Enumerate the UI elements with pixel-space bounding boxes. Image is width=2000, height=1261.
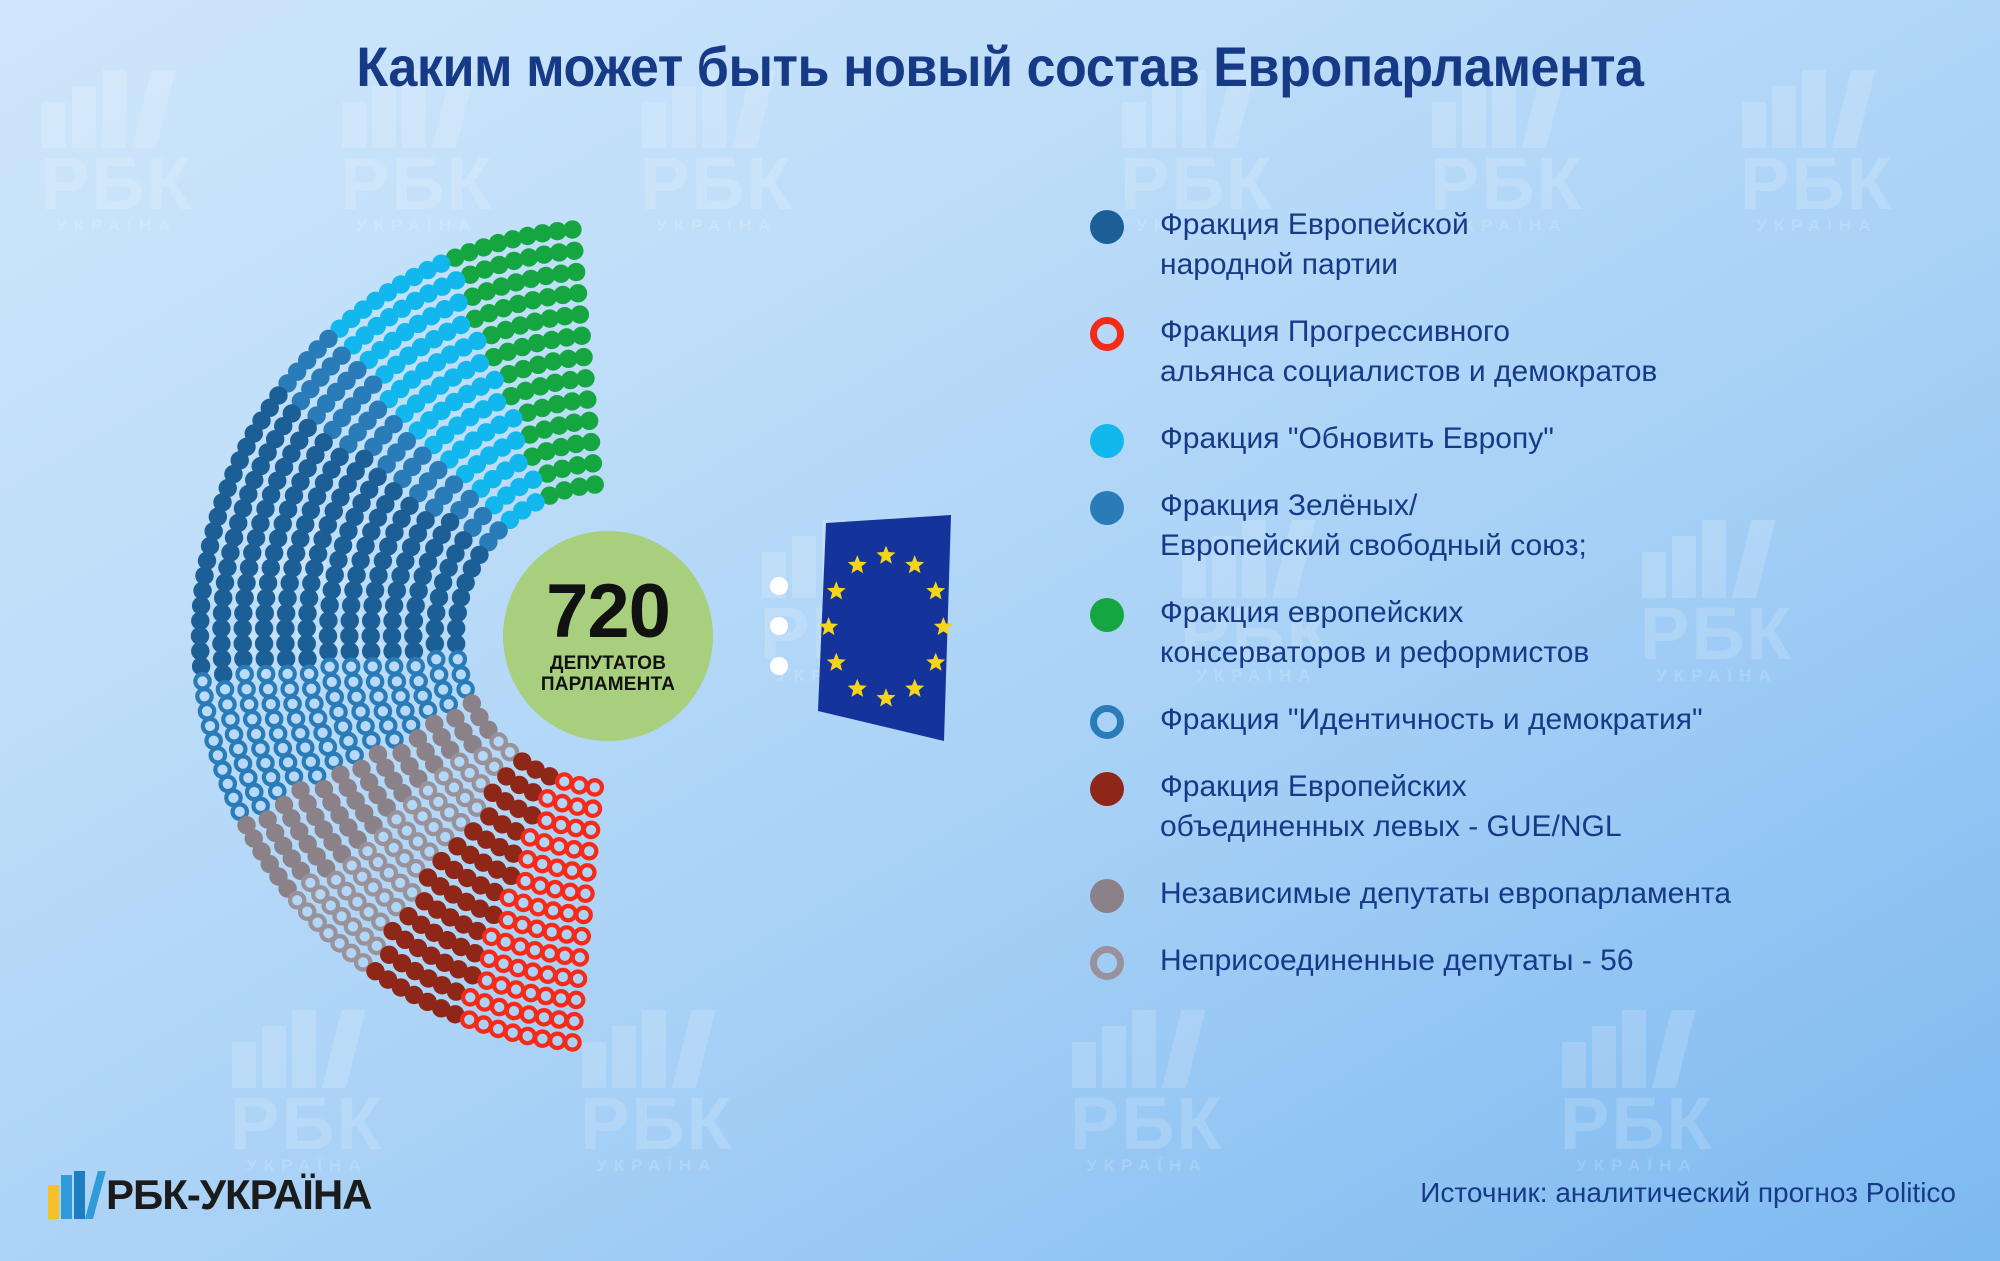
- seat-dot: [535, 1031, 549, 1045]
- legend-line-2: объединенных левых - GUE/NGL: [1160, 807, 1622, 847]
- seat-dot: [264, 697, 278, 711]
- seat-dot: [506, 1026, 520, 1040]
- seat-dot: [552, 839, 566, 853]
- seat-dot: [567, 1014, 581, 1028]
- seat-dot: [452, 588, 470, 606]
- seat-dot: [197, 689, 211, 703]
- seat-dot: [554, 991, 568, 1005]
- seat-dot: [494, 978, 508, 992]
- seat-dot: [520, 1029, 534, 1043]
- seat-dot: [563, 885, 577, 899]
- legend-line-1: Фракция Зелёных/: [1160, 489, 1417, 522]
- seat-dot: [540, 791, 554, 805]
- page-title: Каким может быть новый состав Европарлам…: [70, 34, 1930, 99]
- legend-line-2: консерваторов и реформистов: [1160, 633, 1589, 673]
- seat-dot: [526, 965, 540, 979]
- seat-dot: [582, 844, 596, 858]
- legend-line-1: Фракция европейских: [1160, 596, 1463, 629]
- watermark-bars-icon: [1070, 1010, 1188, 1088]
- seat-dot: [458, 682, 472, 696]
- legend-line-1: Фракция "Обновить Европу": [1160, 422, 1554, 455]
- seat-dot: [349, 690, 363, 704]
- seat-dot: [528, 943, 542, 957]
- legend-line-2: альянса социалистов и демократов: [1160, 352, 1657, 392]
- seat-dot: [429, 652, 443, 666]
- seat-dot: [513, 939, 527, 953]
- seat-dot: [558, 949, 572, 963]
- seat-dot: [267, 712, 281, 726]
- seat-dot: [507, 1004, 521, 1018]
- seat-dot: [476, 1017, 490, 1031]
- seat-dot: [501, 913, 515, 927]
- seat-dot: [569, 821, 583, 835]
- caption-line-1: ДЕПУТАТОВ: [550, 653, 666, 674]
- seat-dot: [573, 950, 587, 964]
- filled-circle-icon: [1090, 598, 1124, 632]
- legend-line-1: Фракция Европейских: [1160, 770, 1467, 803]
- seat-dot: [580, 865, 594, 879]
- filled-circle-icon: [1090, 491, 1124, 525]
- seat-dot: [307, 696, 321, 710]
- legend-label: Фракция Зелёных/ Европейский свободный с…: [1160, 486, 1587, 566]
- seat-dot: [522, 1007, 536, 1021]
- seat-dot: [409, 659, 423, 673]
- rbk-logo[interactable]: РБК-УКРАЇНА: [48, 1171, 372, 1219]
- watermark-brand: РБК: [1560, 1092, 1714, 1156]
- seat-dot: [477, 995, 491, 1009]
- legend-label: Независимые депутаты европарламента: [1160, 874, 1731, 914]
- legend-line-2: народной партии: [1160, 245, 1469, 285]
- seat-dot: [568, 456, 586, 474]
- seat-dot: [584, 823, 598, 837]
- seat-dot: [518, 874, 532, 888]
- source-attribution: Источник: аналитический прогноз Politico: [1420, 1177, 1956, 1209]
- seat-dot: [454, 667, 468, 681]
- seat-dot: [545, 925, 559, 939]
- seat-dot: [451, 652, 465, 666]
- seat-dot: [491, 1022, 505, 1036]
- seat-dot: [552, 1012, 566, 1026]
- legend-label: Фракция Европейских объединенных левых -…: [1160, 767, 1622, 847]
- seat-dot: [511, 961, 525, 975]
- seat-dot: [325, 675, 339, 689]
- seat-dot: [293, 726, 307, 740]
- seat-dot: [206, 734, 220, 748]
- seat-dot: [565, 1035, 579, 1049]
- legend-label: Фракция Европейской народной партии: [1160, 205, 1469, 285]
- rbk-bars-icon: [48, 1171, 92, 1219]
- seat-dot: [531, 900, 545, 914]
- seat-dot: [231, 742, 245, 756]
- seat-dot: [311, 711, 325, 725]
- seat-dot: [584, 454, 602, 472]
- seat-dot: [432, 667, 446, 681]
- seat-dot: [567, 842, 581, 856]
- seat-dot: [498, 935, 512, 949]
- legend-item-id[interactable]: Фракция "Идентичность и демократия": [1090, 700, 1970, 740]
- seat-dot: [541, 968, 555, 982]
- legend-line-1: Фракция Прогрессивного: [1160, 315, 1510, 348]
- seat-dot: [533, 878, 547, 892]
- caption-line-2: ПАРЛАМЕНТА: [541, 674, 675, 695]
- legend-line-1: Фракция Европейской: [1160, 208, 1469, 241]
- legend-item-sd[interactable]: Фракция Прогрессивного альянса социалист…: [1090, 312, 1970, 392]
- seat-dot: [336, 719, 350, 733]
- seat-dot: [271, 726, 285, 740]
- watermark-brand: РБК: [230, 1092, 384, 1156]
- filled-circle-icon: [1090, 210, 1124, 244]
- filled-circle-icon: [1090, 424, 1124, 458]
- seat-dot: [537, 1010, 551, 1024]
- seat-dot: [482, 952, 496, 966]
- seat-dot: [245, 712, 259, 726]
- seat-dot: [463, 990, 477, 1004]
- seat-dot: [203, 719, 217, 733]
- seat-dot: [237, 667, 251, 681]
- seat-dot: [586, 475, 604, 493]
- legend-label: Фракция "Обновить Европу": [1160, 419, 1554, 459]
- filled-circle-icon: [1090, 772, 1124, 806]
- total-seats-number: 720: [546, 578, 670, 646]
- watermark-brand: РБК: [1070, 1092, 1224, 1156]
- seat-dot: [390, 674, 404, 688]
- seat-dot: [550, 1034, 564, 1048]
- eu-flag-block: [770, 515, 955, 745]
- seat-dot: [371, 689, 385, 703]
- seat-dot: [509, 982, 523, 996]
- seat-dot: [548, 882, 562, 896]
- seat-dot: [515, 918, 529, 932]
- seat-dot: [195, 674, 209, 688]
- watermark-bars-icon: [1560, 1010, 1678, 1088]
- watermark-sub: УКРАЇНА: [1070, 1156, 1224, 1176]
- total-seats-caption: ДЕПУТАТОВ ПАРЛАМЕНТА: [541, 653, 675, 695]
- legend: Фракция Европейской народной партии Фрак…: [1090, 205, 1970, 1008]
- legend-item-epp[interactable]: Фракция Европейской народной партии: [1090, 205, 1970, 285]
- seat-dot: [353, 704, 367, 718]
- seat-dot: [539, 989, 553, 1003]
- legend-item-renew[interactable]: Фракция "Обновить Европу": [1090, 419, 1970, 459]
- seat-dot: [569, 993, 583, 1007]
- eu-flag-icon: [818, 515, 953, 743]
- seat-dot: [283, 682, 297, 696]
- seat-dot: [346, 675, 360, 689]
- seat-dot: [588, 780, 602, 794]
- legend-item-independent[interactable]: Независимые депутаты европарламента: [1090, 874, 1970, 914]
- total-seats-badge: 720 ДЕПУТАТОВ ПАРЛАМЕНТА: [503, 531, 713, 741]
- legend-item-greens-efa[interactable]: Фракция Зелёных/ Европейский свободный с…: [1090, 486, 1970, 566]
- watermark-sub: УКРАЇНА: [580, 1156, 734, 1176]
- flag-pole-dots-icon: [770, 577, 788, 697]
- seat-dot: [492, 1000, 506, 1014]
- seat-dot: [516, 896, 530, 910]
- seat-dot: [575, 929, 589, 943]
- seat-dot: [387, 659, 401, 673]
- hollow-circle-icon: [1090, 317, 1124, 351]
- seat-dot: [242, 697, 256, 711]
- seat-dot: [223, 712, 237, 726]
- seat-dot: [571, 971, 585, 985]
- hollow-circle-icon: [1090, 946, 1124, 980]
- seat-dot: [550, 861, 564, 875]
- rbk-logo-text: РБК-УКРАЇНА: [106, 1171, 372, 1219]
- seat-dot: [344, 659, 358, 673]
- seat-dot: [411, 674, 425, 688]
- legend-label: Фракция "Идентичность и демократия": [1160, 700, 1703, 740]
- seat-dot: [211, 748, 225, 762]
- seat-dot: [436, 682, 450, 696]
- legend-item-non-attached[interactable]: Неприсоединенные депутаты - 56: [1090, 941, 1970, 981]
- legend-line-1: Независимые депутаты европарламента: [1160, 877, 1731, 910]
- seat-dot: [570, 799, 584, 813]
- seat-dot: [530, 922, 544, 936]
- seat-dot: [543, 946, 557, 960]
- seat-dot: [480, 973, 494, 987]
- seat-dot: [302, 667, 316, 681]
- seat-dot: [535, 857, 549, 871]
- seat-dot: [200, 704, 214, 718]
- seat-dot: [331, 705, 345, 719]
- legend-label: Неприсоединенные депутаты - 56: [1160, 941, 1634, 981]
- legend-item-gue-ngl[interactable]: Фракция Европейских объединенных левых -…: [1090, 767, 1970, 847]
- seat-dot: [289, 711, 303, 725]
- seat-dot: [557, 774, 571, 788]
- seat-dot: [546, 903, 560, 917]
- seat-dot: [520, 852, 534, 866]
- legend-label: Фракция Прогрессивного альянса социалист…: [1160, 312, 1657, 392]
- seat-dot: [261, 682, 275, 696]
- seat-dot: [227, 727, 241, 741]
- seat-dot: [586, 801, 600, 815]
- seat-dot: [253, 741, 267, 755]
- seat-dot: [376, 704, 390, 718]
- seat-dot: [572, 778, 586, 792]
- seat-dot: [554, 818, 568, 832]
- seat-dot: [322, 660, 336, 674]
- seat-dot: [285, 697, 299, 711]
- legend-line-2: Европейский свободный союз;: [1160, 526, 1587, 566]
- watermark-tile: РБК УКРАЇНА: [1070, 1010, 1224, 1176]
- seat-dot: [365, 659, 379, 673]
- seat-dot: [496, 957, 510, 971]
- filled-circle-icon: [1090, 879, 1124, 913]
- seat-dot: [578, 886, 592, 900]
- seat-dot: [259, 667, 273, 681]
- legend-line-1: Неприсоединенные депутаты - 56: [1160, 944, 1634, 977]
- seat-dot: [539, 813, 553, 827]
- seat-dot: [537, 835, 551, 849]
- seat-dot: [556, 970, 570, 984]
- legend-label: Фракция европейских консерваторов и рефо…: [1160, 593, 1589, 673]
- seat-dot: [328, 690, 342, 704]
- hollow-circle-icon: [1090, 705, 1124, 739]
- seat-dot: [368, 674, 382, 688]
- seat-dot: [565, 863, 579, 877]
- seat-dot: [218, 682, 232, 696]
- watermark-tile: РБК УКРАЇНА: [1560, 1010, 1714, 1176]
- seat-dot: [559, 927, 573, 941]
- seat-dot: [576, 908, 590, 922]
- legend-line-1: Фракция "Идентичность и демократия": [1160, 703, 1703, 736]
- seat-dot: [502, 891, 516, 905]
- seat-dot: [304, 682, 318, 696]
- seat-dot: [220, 697, 234, 711]
- seat-dot: [393, 689, 407, 703]
- seat-dot: [523, 830, 537, 844]
- seat-dot: [239, 682, 253, 696]
- seat-dot: [524, 986, 538, 1000]
- seat-dot: [249, 727, 263, 741]
- seat-dot: [561, 906, 575, 920]
- seat-dot: [555, 796, 569, 810]
- seat-dot: [430, 588, 448, 606]
- watermark-brand: РБК: [580, 1092, 734, 1156]
- legend-item-ecr[interactable]: Фракция европейских консерваторов и рефо…: [1090, 593, 1970, 673]
- watermark-sub: УКРАЇНА: [1560, 1156, 1714, 1176]
- seat-dot: [280, 667, 294, 681]
